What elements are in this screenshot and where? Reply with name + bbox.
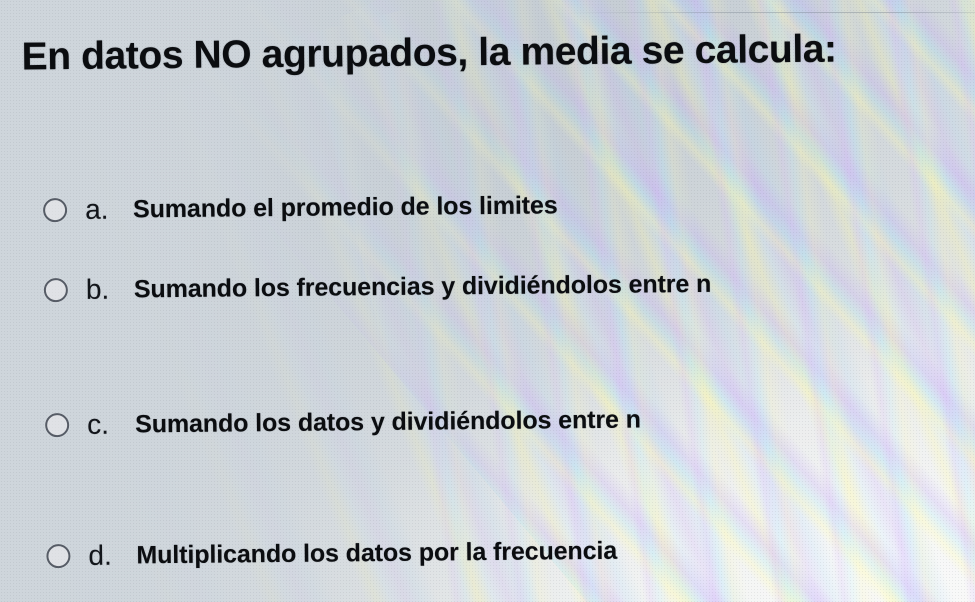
answer-option-b[interactable]: b. Sumando los frecuencias y dividiéndol…: [44, 268, 712, 306]
radio-unchecked-icon[interactable]: [44, 278, 68, 302]
radio-unchecked-icon[interactable]: [43, 198, 67, 222]
option-text-b[interactable]: Sumando los frecuencias y dividiéndolos …: [134, 269, 712, 304]
option-text-a[interactable]: Sumando el promedio de los limites: [133, 191, 558, 224]
answer-option-d[interactable]: d. Multiplicando los datos por la frecue…: [46, 535, 617, 572]
radio-unchecked-icon[interactable]: [45, 413, 69, 437]
option-letter-a: a.: [85, 193, 127, 225]
option-letter-b: b.: [86, 273, 128, 305]
option-letter-d: d.: [88, 539, 130, 571]
answer-option-c[interactable]: c. Sumando los datos y dividiéndolos ent…: [45, 404, 641, 442]
option-text-d[interactable]: Multiplicando los datos por la frecuenci…: [136, 536, 617, 570]
quiz-screen: En datos NO agrupados, la media se calcu…: [0, 0, 975, 602]
radio-unchecked-icon[interactable]: [46, 544, 70, 568]
option-text-c[interactable]: Sumando los datos y dividiéndolos entre …: [135, 405, 641, 439]
answer-option-a[interactable]: a. Sumando el promedio de los limites: [43, 189, 558, 226]
question-title: En datos NO agrupados, la media se calcu…: [21, 27, 961, 78]
quiz-content: En datos NO agrupados, la media se calcu…: [0, 0, 975, 602]
option-letter-c: c.: [87, 408, 129, 440]
